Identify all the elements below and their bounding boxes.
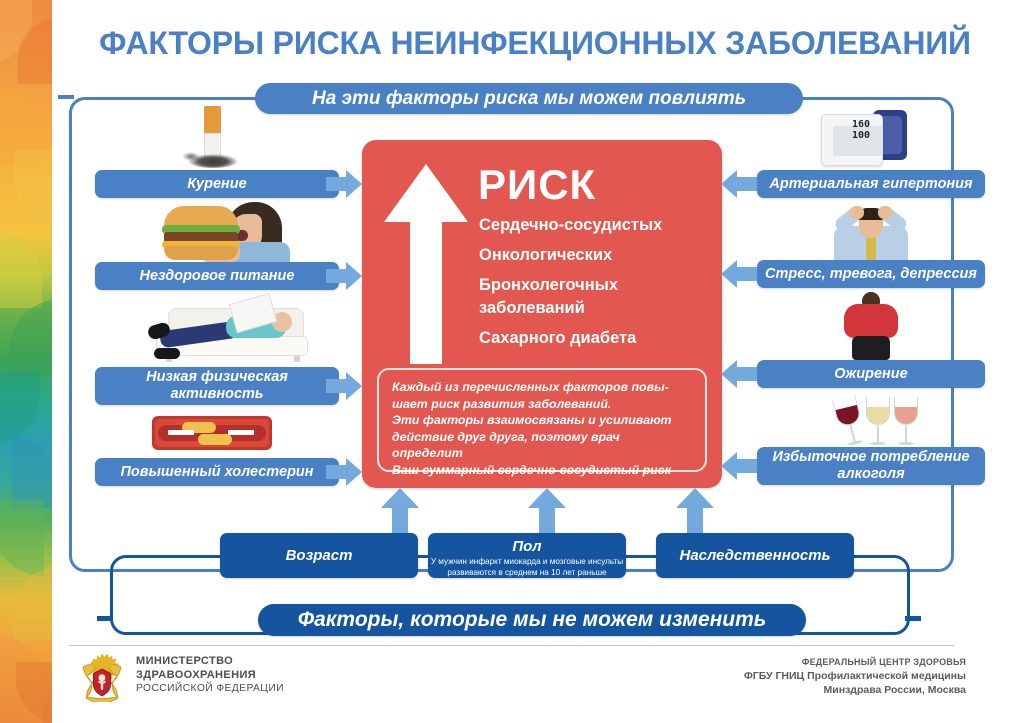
- clogged-artery-icon: [152, 416, 272, 450]
- risk-item: Бронхолегочных заболеваний: [479, 274, 711, 320]
- risk-note: Каждый из перечисленных факторов повы- ш…: [377, 368, 707, 472]
- couch-potato-icon: [122, 298, 314, 364]
- frame-connector-stub: [97, 616, 113, 621]
- risk-note-line: шает риск развития заболеваний.: [392, 396, 693, 413]
- factor-box-age[interactable]: Возраст: [220, 533, 418, 578]
- risk-note-line: действие друг друга, поэтому врач опреде…: [392, 429, 693, 462]
- decorative-ribbon: [0, 0, 52, 723]
- risk-panel: РИСК Сердечно-сосудистых Онкологических …: [362, 140, 722, 488]
- arrow-right-icon: [326, 372, 362, 400]
- risk-disease-list: Сердечно-сосудистых Онкологических Бронх…: [479, 214, 711, 357]
- ministry-line-1: МИНИСТЕРСТВО: [136, 655, 284, 669]
- factor-label-excess-alcohol[interactable]: Избыточное потребление алкоголя: [757, 447, 985, 485]
- russian-coat-of-arms-icon: [76, 650, 128, 702]
- bp-systolic: 160: [828, 119, 870, 130]
- center-credit-text: ФЕДЕРАЛЬНЫЙ ЦЕНТР ЗДОРОВЬЯ ФГБУ ГНИЦ Про…: [744, 655, 966, 697]
- banner-modifiable: На эти факторы риска мы можем повлиять: [255, 83, 803, 114]
- arrow-right-icon: [326, 262, 362, 290]
- factor-box-sex-subtitle: У мужчин инфаркт миокарда и мозговые инс…: [428, 556, 626, 578]
- risk-note-line: Каждый из перечисленных факторов повы-: [392, 379, 693, 396]
- cigarette-icon: [182, 104, 244, 168]
- bp-diastolic: 100: [828, 130, 870, 141]
- obese-person-icon: [840, 292, 902, 360]
- credit-line-2: ФГБУ ГНИЦ Профилактической медицины: [744, 669, 966, 683]
- factor-label-smoking[interactable]: Курение: [95, 170, 339, 198]
- factor-label-unhealthy-diet[interactable]: Нездоровое питание: [95, 262, 339, 290]
- factor-box-age-title: Возраст: [286, 547, 353, 564]
- factor-box-sex[interactable]: Пол У мужчин инфаркт миокарда и мозговые…: [428, 533, 626, 578]
- poster-canvas: ФАКТОРЫ РИСКА НЕИНФЕКЦИОННЫХ ЗАБОЛЕВАНИЙ…: [0, 0, 1024, 723]
- risk-item: Сердечно-сосудистых: [479, 214, 711, 237]
- factor-label-arterial-hypertension[interactable]: Артериальная гипертония: [757, 170, 985, 198]
- arrow-right-icon: [326, 170, 362, 198]
- factor-label-stress-anxiety-depression[interactable]: Стресс, тревога, депрессия: [757, 260, 985, 288]
- banner-non-modifiable: Факторы, которые мы не можем изменить: [258, 604, 806, 636]
- factor-label-high-cholesterol[interactable]: Повышенный холестерин: [95, 458, 339, 486]
- frame-connector-stub: [58, 95, 74, 99]
- ministry-text: МИНИСТЕРСТВО ЗДРАВООХРАНЕНИЯ РОССИЙСКОЙ …: [136, 655, 284, 696]
- arrow-left-icon: [721, 360, 757, 388]
- stressed-man-icon: [828, 198, 914, 260]
- arrow-left-icon: [721, 260, 757, 288]
- factor-box-sex-title: Пол: [428, 538, 626, 555]
- factor-label-obesity[interactable]: Ожирение: [757, 360, 985, 388]
- page-title: ФАКТОРЫ РИСКА НЕИНФЕКЦИОННЫХ ЗАБОЛЕВАНИЙ: [60, 22, 1010, 64]
- risk-note-line: Эти факторы взаимосвязаны и усиливают: [392, 412, 693, 429]
- risk-note-line: Ваш суммарный сердечно-сосудистый риск: [392, 462, 693, 479]
- factor-box-heredity[interactable]: Наследственность: [656, 533, 854, 578]
- up-arrow-icon: [384, 164, 468, 364]
- arrow-left-icon: [721, 452, 757, 480]
- frame-connector-stub: [905, 616, 921, 621]
- factor-label-low-physical-activity[interactable]: Низкая физическая активность: [95, 367, 339, 405]
- arrow-right-icon: [326, 458, 362, 486]
- risk-item: Сахарного диабета: [479, 327, 711, 350]
- arrow-left-icon: [721, 170, 757, 198]
- wine-glasses-icon: [838, 395, 924, 449]
- burger-eating-icon: [136, 200, 292, 262]
- credit-line-3: Минздрава России, Москва: [744, 683, 966, 697]
- credit-line-1: ФЕДЕРАЛЬНЫЙ ЦЕНТР ЗДОРОВЬЯ: [744, 655, 966, 669]
- factor-box-heredity-title: Наследственность: [679, 547, 830, 564]
- risk-heading: РИСК: [478, 162, 596, 208]
- footer-divider: [69, 645, 954, 646]
- blood-pressure-monitor-icon: 160100: [815, 108, 907, 170]
- risk-item: Онкологических: [479, 244, 711, 267]
- ministry-line-3: РОССИЙСКОЙ ФЕДЕРАЦИИ: [136, 682, 284, 696]
- ministry-line-2: ЗДРАВООХРАНЕНИЯ: [136, 669, 284, 683]
